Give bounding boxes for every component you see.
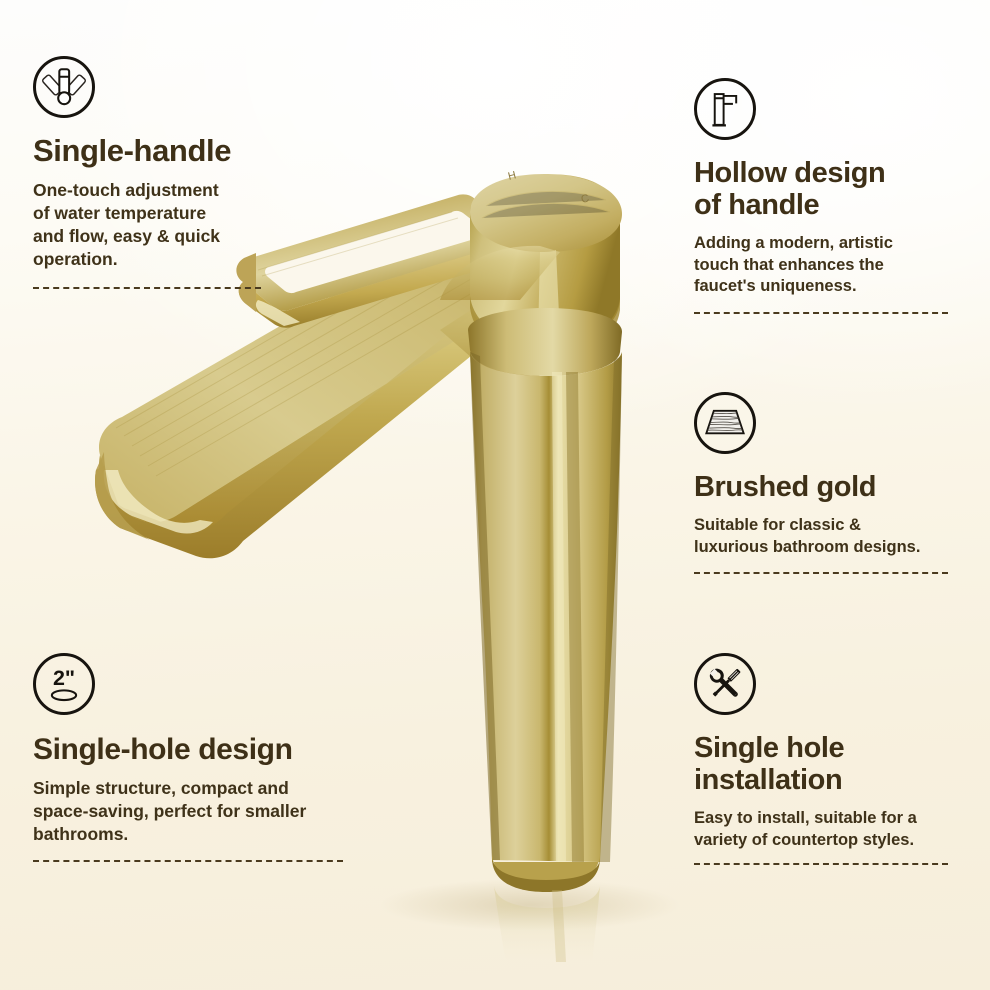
brushed-texture-icon bbox=[694, 392, 756, 454]
feature-description: Adding a modern, artistic touch that enh… bbox=[694, 233, 962, 298]
faucet-outline-icon bbox=[694, 78, 756, 140]
feature-single-hole-design: 2" Single-hole design Simple structure, … bbox=[33, 653, 363, 862]
infographic-page: H C bbox=[0, 0, 990, 990]
feature-description: Easy to install, suitable for a variety … bbox=[694, 808, 962, 852]
divider-dashed bbox=[694, 312, 948, 314]
feature-single-hole-installation: Single hole installation Easy to install… bbox=[694, 653, 962, 865]
feature-brushed-gold: Brushed gold Suitable for classic & luxu… bbox=[694, 392, 962, 574]
two-inch-hole-icon: 2" bbox=[33, 653, 95, 715]
lever-handle-positions-icon bbox=[33, 56, 95, 118]
feature-description: Simple structure, compact and space-savi… bbox=[33, 777, 363, 846]
wrench-screwdriver-icon bbox=[694, 653, 756, 715]
two-inch-label: 2" bbox=[53, 666, 75, 690]
divider-dashed bbox=[33, 287, 261, 289]
feature-title: Single-hole design bbox=[33, 733, 363, 766]
feature-title: Single-handle bbox=[33, 134, 333, 168]
feature-title: Single hole installation bbox=[694, 733, 962, 797]
feature-description: One-touch adjustment of water temperatur… bbox=[33, 179, 333, 271]
svg-text:H: H bbox=[507, 169, 518, 183]
feature-single-handle: Single-handle One-touch adjustment of wa… bbox=[33, 56, 333, 289]
feature-title: Brushed gold bbox=[694, 472, 962, 504]
divider-dashed bbox=[694, 863, 948, 865]
feature-title: Hollow design of handle bbox=[694, 158, 962, 222]
divider-dashed bbox=[694, 572, 948, 574]
feature-hollow-design: Hollow design of handle Adding a modern,… bbox=[694, 78, 962, 314]
divider-dashed bbox=[33, 860, 343, 862]
svg-text:C: C bbox=[580, 192, 591, 206]
feature-description: Suitable for classic & luxurious bathroo… bbox=[694, 515, 962, 559]
